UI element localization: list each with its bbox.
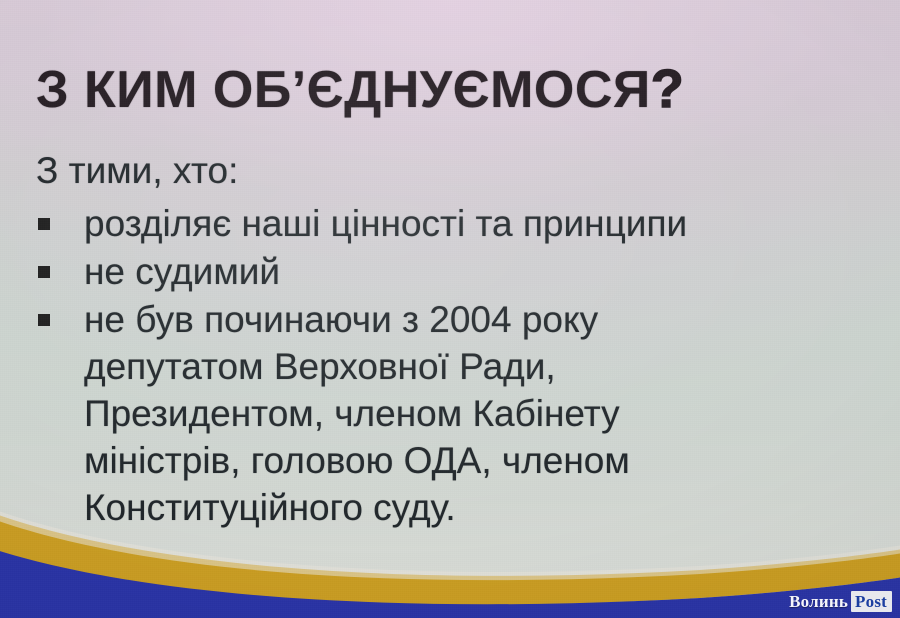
list-item: не судимий: [34, 248, 874, 295]
list-item-line: депутатом Верховної Ради,: [84, 343, 874, 390]
square-bullet-icon: [38, 266, 50, 278]
slide-title-text: З КИМ ОБ’ЄДНУЄМОСЯ: [36, 61, 651, 119]
square-bullet-icon: [38, 314, 50, 326]
list-item-line: Президентом, членом Кабінету: [84, 390, 874, 437]
square-bullet-icon: [38, 218, 50, 230]
watermark-post-text: Post: [851, 591, 892, 612]
list-item-line: розділяє наші цінності та принципи: [84, 200, 874, 247]
watermark-volyn-text: Волинь: [787, 591, 851, 612]
list-item-line: не судимий: [84, 248, 874, 295]
list-item-line: не був починаючи з 2004 року: [84, 296, 874, 343]
criteria-list: розділяє наші цінності та принципи не су…: [34, 200, 874, 531]
list-item: розділяє наші цінності та принципи: [34, 200, 874, 247]
presentation-slide: З КИМ ОБ’ЄДНУЄМОСЯ? З тими, хто: розділя…: [0, 0, 900, 618]
slide-lead-text: З тими, хто:: [36, 148, 874, 194]
watermark: Волинь Post: [787, 591, 892, 612]
slide-title: З КИМ ОБ’ЄДНУЄМОСЯ?: [36, 58, 684, 120]
list-item-line: Конституційного суду.: [84, 484, 874, 531]
slide-title-question-mark: ?: [651, 59, 685, 119]
list-item: не був починаючи з 2004 року депутатом В…: [34, 296, 874, 531]
slide-body: З тими, хто: розділяє наші цінності та п…: [34, 148, 874, 532]
list-item-line: міністрів, головою ОДА, членом: [84, 437, 874, 484]
